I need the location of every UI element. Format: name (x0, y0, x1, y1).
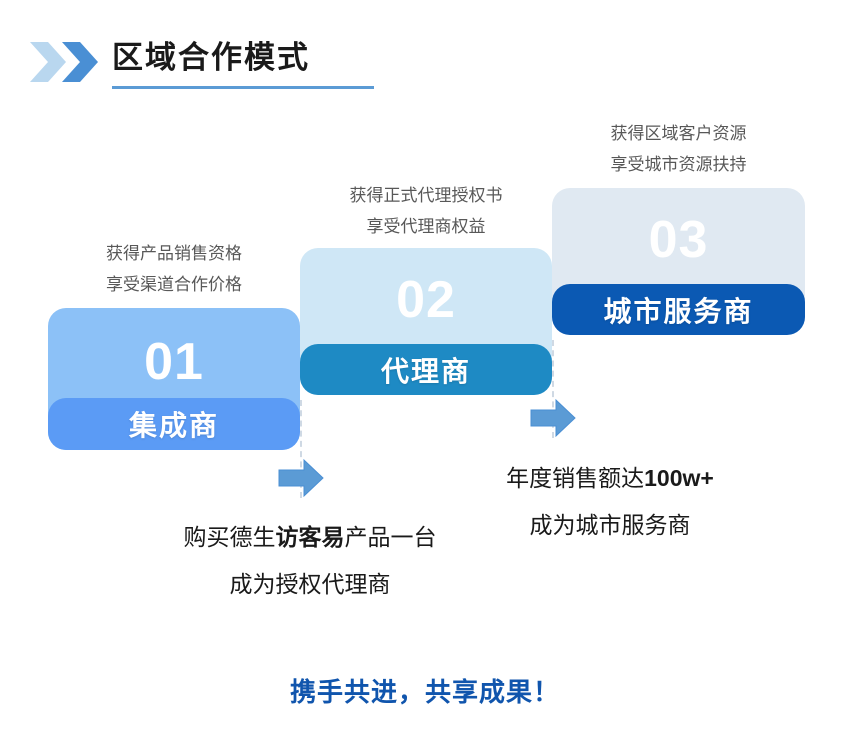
step-label-bar: 代理商 (300, 344, 552, 395)
benefit-line: 获得产品销售资格 (48, 238, 300, 269)
step-benefits-1: 获得产品销售资格 享受渠道合作价格 (48, 238, 300, 300)
arrow-right-icon (530, 398, 576, 438)
step-note-2: 年度销售额达100w+ 成为城市服务商 (450, 455, 770, 549)
header-chevrons (28, 41, 106, 83)
note-line-2: 成为授权代理商 (140, 561, 480, 608)
step-label-bar: 城市服务商 (552, 284, 805, 335)
note-suffix: 产品一台 (345, 524, 437, 550)
step-card-3[interactable]: 03 城市服务商 (552, 188, 805, 335)
note-line-1: 年度销售额达100w+ (450, 455, 770, 502)
chevron-right-icon (60, 41, 100, 83)
benefit-line: 获得正式代理授权书 (300, 180, 552, 211)
step-number: 03 (552, 214, 805, 266)
step-benefits-2: 获得正式代理授权书 享受代理商权益 (300, 180, 552, 242)
note-prefix: 年度销售额达 (506, 465, 644, 491)
benefit-line: 享受城市资源扶持 (552, 149, 805, 180)
title-underline (112, 86, 374, 89)
step-card-1[interactable]: 01 集成商 (48, 308, 300, 450)
step-card-2[interactable]: 02 代理商 (300, 248, 552, 395)
benefit-line: 享受代理商权益 (300, 211, 552, 242)
poster-canvas: 区域合作模式 获得产品销售资格 享受渠道合作价格 获得正式代理授权书 享受代理商… (0, 0, 850, 737)
note-strong: 100w+ (644, 465, 714, 491)
note-strong: 访客易 (276, 524, 345, 550)
note-line-2: 成为城市服务商 (450, 502, 770, 549)
step-number: 01 (48, 336, 300, 388)
step-note-1: 购买德生访客易产品一台 成为授权代理商 (140, 514, 480, 608)
benefit-line: 享受渠道合作价格 (48, 269, 300, 300)
page-title: 区域合作模式 (112, 36, 310, 80)
section-header: 区域合作模式 (28, 36, 428, 96)
arrow-right-icon (278, 458, 324, 498)
step-benefits-3: 获得区域客户资源 享受城市资源扶持 (552, 118, 805, 180)
step-label-bar: 集成商 (48, 398, 300, 450)
note-line-1: 购买德生访客易产品一台 (140, 514, 480, 561)
benefit-line: 获得区域客户资源 (552, 118, 805, 149)
step-number: 02 (300, 274, 552, 326)
note-prefix: 购买德生 (184, 524, 276, 550)
footer-slogan: 携手共进，共享成果！ (0, 672, 850, 709)
